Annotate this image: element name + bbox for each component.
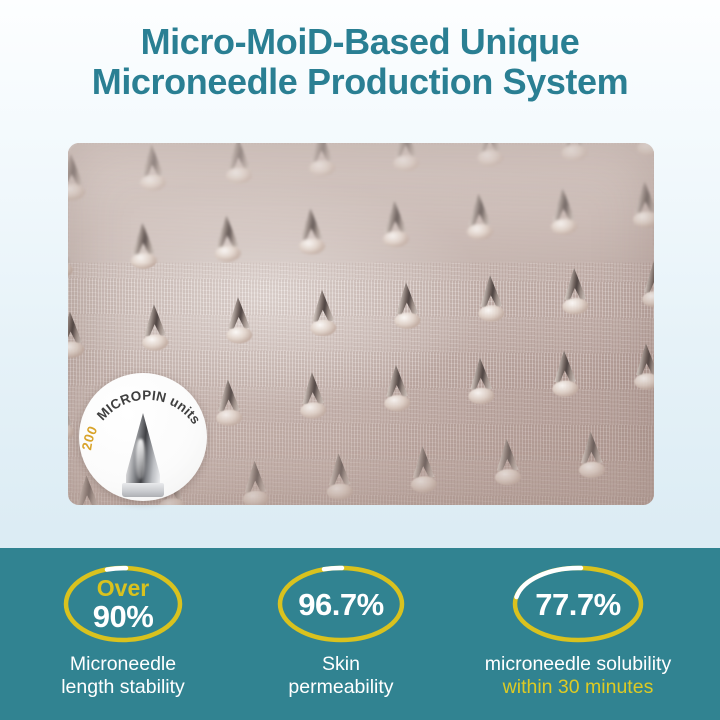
stat-ellipse-2: 96.7% — [276, 564, 406, 644]
stat-ellipse-1: Over 90% — [62, 564, 184, 644]
stat-caption-line1: Microneedle — [0, 653, 246, 676]
title-line-1: Micro-MoiD-Based Unique — [0, 22, 720, 62]
title-line-2: Microneedle Production System — [0, 62, 720, 102]
stat-caption-line2: length stability — [0, 676, 246, 699]
stat-item-solubility: 77.7% microneedle solubility within 30 m… — [436, 548, 720, 699]
stat-value-1: 90% — [93, 601, 154, 632]
stat-caption-line2: within 30 minutes — [436, 676, 720, 699]
stat-caption-line2: permeability — [246, 676, 436, 699]
stat-caption-3: microneedle solubility within 30 minutes — [436, 653, 720, 699]
stat-prefix-1: Over — [97, 577, 149, 600]
badge-number: 200 — [79, 424, 100, 452]
stats-band: Over 90% Microneedle length stability — [0, 548, 720, 720]
stat-value-group-3: 77.7% — [511, 564, 645, 644]
stat-ellipse-3: 77.7% — [511, 564, 645, 644]
stat-value-group-1: Over 90% — [62, 564, 184, 644]
stat-caption-line1: microneedle solubility — [436, 653, 720, 676]
stats-row: Over 90% Microneedle length stability — [0, 548, 720, 720]
stat-item-skin-permeability: 96.7% Skin permeability — [246, 548, 436, 699]
micropin-units-badge: 200 MICROPIN units — [79, 373, 207, 501]
stat-value-2: 96.7% — [298, 589, 383, 620]
page-title: Micro-MoiD-Based Unique Microneedle Prod… — [0, 22, 720, 103]
micropin-needle-icon — [117, 413, 169, 497]
stat-caption-2: Skin permeability — [246, 653, 436, 699]
stat-caption-line1: Skin — [246, 653, 436, 676]
poster-root: Micro-MoiD-Based Unique Microneedle Prod… — [0, 0, 720, 720]
stat-item-length-stability: Over 90% Microneedle length stability — [0, 548, 246, 699]
stat-caption-1: Microneedle length stability — [0, 653, 246, 699]
stat-value-group-2: 96.7% — [276, 564, 406, 644]
stat-value-3: 77.7% — [535, 589, 620, 620]
